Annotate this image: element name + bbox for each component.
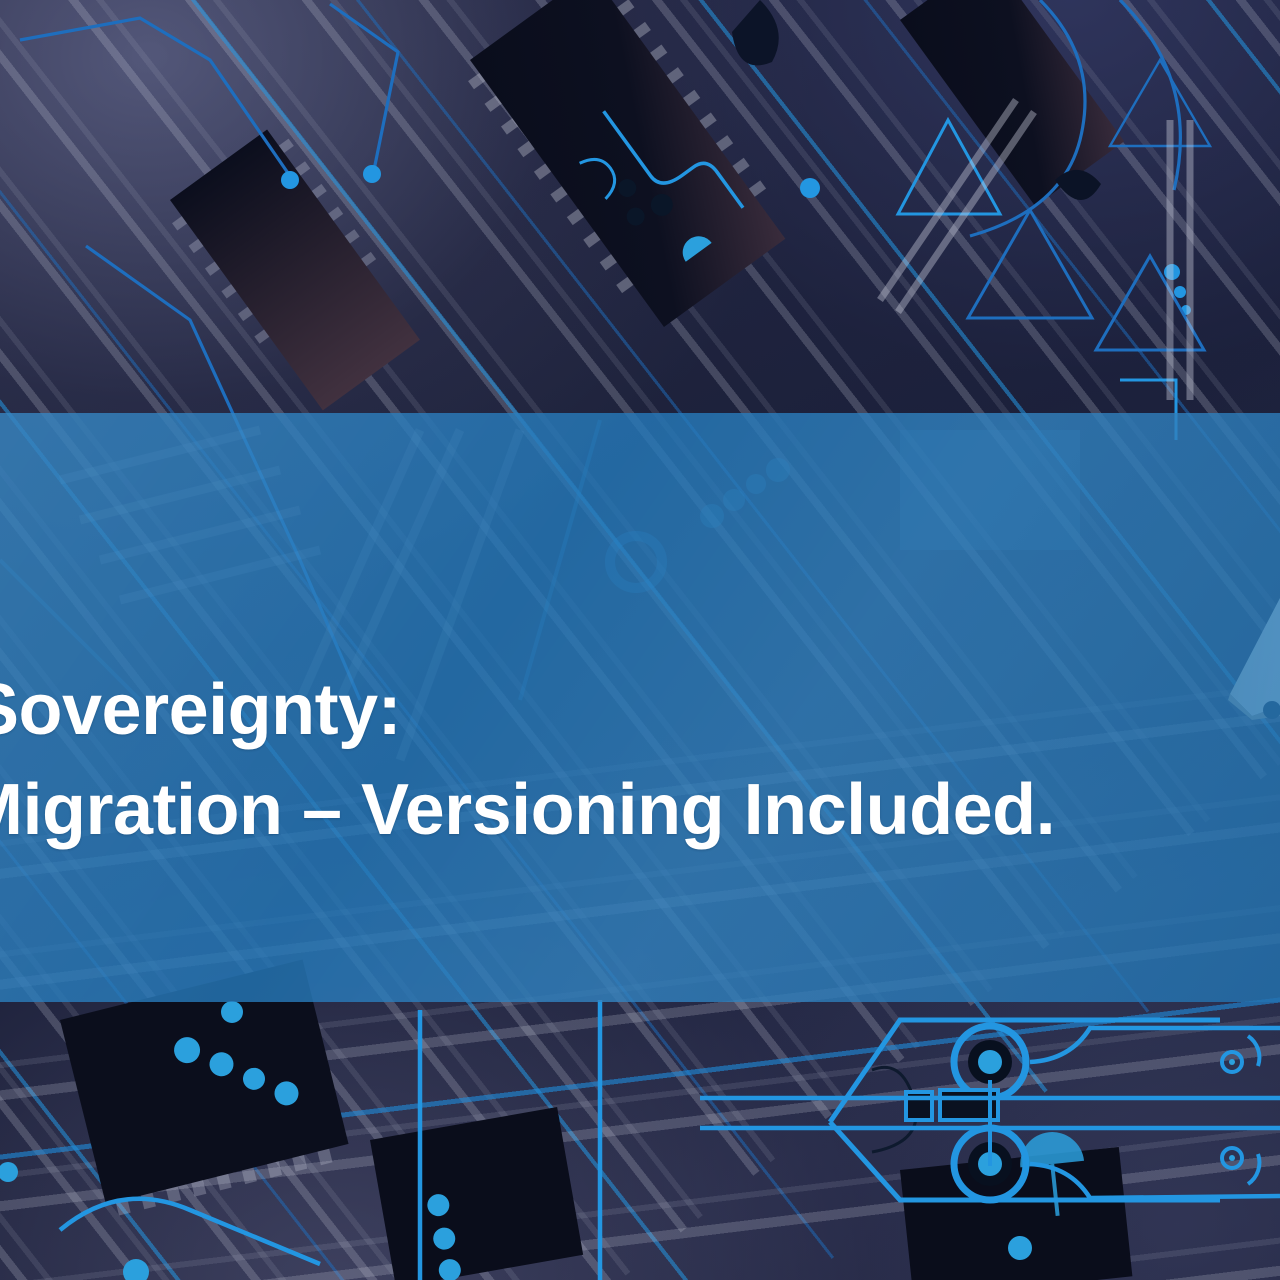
band-sheen: [0, 413, 1280, 1002]
banner-canvas: 's o n Sovereignty: O Migration – Versio…: [0, 0, 1280, 1280]
chip-upper-mid: [160, 122, 429, 417]
blob-motif: [732, 0, 779, 65]
blue-overlay-band: [0, 413, 1280, 1002]
chip-lower-mid: [370, 1107, 584, 1280]
